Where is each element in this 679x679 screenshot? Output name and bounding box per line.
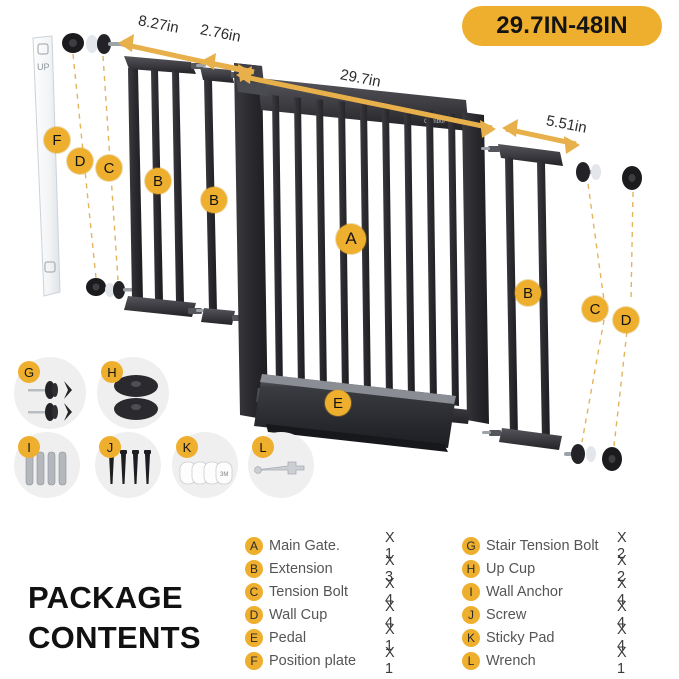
legend-label-extension: Extension <box>269 561 333 577</box>
legend-column-right: G Stair Tension Bolt X 2 H Up Cup X 2 I … <box>462 534 599 672</box>
callout-badge-extension-left-narrow: B <box>201 187 227 213</box>
legend-label-stair-tension-bolt: Stair Tension Bolt <box>486 538 599 554</box>
callout-badge-tension-bolt-left: C <box>96 155 122 181</box>
product-diagram-page: 29.7IN-48IN <box>0 0 679 679</box>
legend-label-tension-bolt: Tension Bolt <box>269 584 348 600</box>
legend-label-sticky-pad: Sticky Pad <box>486 630 555 646</box>
legend-badge-d: D <box>245 606 263 624</box>
callout-badge-wall-cup-right: D <box>613 307 639 333</box>
legend-label-wall-cup: Wall Cup <box>269 607 327 623</box>
part-badge-wrench: L <box>252 436 274 458</box>
legend-item-screw: J Screw X 4 <box>462 603 599 626</box>
legend-qty-position-plate: X 1 <box>385 645 395 677</box>
callout-badge-wall-cup-left: D <box>67 148 93 174</box>
legend-badge-i: I <box>462 583 480 601</box>
part-badge-up-cup: H <box>101 361 123 383</box>
legend-badge-g: G <box>462 537 480 555</box>
page-title-line2: CONTENTS <box>28 618 201 658</box>
legend-badge-j: J <box>462 606 480 624</box>
legend-label-position-plate: Position plate <box>269 653 356 669</box>
legend-label-up-cup: Up Cup <box>486 561 535 577</box>
legend-column-left: A Main Gate. X 1 B Extension X 3 C Tensi… <box>245 534 356 672</box>
legend-label-pedal: Pedal <box>269 630 306 646</box>
callout-badge-main-gate: A <box>336 224 366 254</box>
legend-badge-e: E <box>245 629 263 647</box>
callout-badge-position-plate: F <box>44 127 70 153</box>
legend-item-sticky-pad: K Sticky Pad X 4 <box>462 626 599 649</box>
part-badge-stair-tension-bolt: G <box>18 361 40 383</box>
legend-qty-wrench: X 1 <box>617 645 627 677</box>
legend-item-wall-cup: D Wall Cup X 4 <box>245 603 356 626</box>
part-badge-sticky-pad: K <box>176 436 198 458</box>
legend-item-wrench: L Wrench X 1 <box>462 649 599 672</box>
legend-item-extension: B Extension X 3 <box>245 557 356 580</box>
legend-label-wrench: Wrench <box>486 653 536 669</box>
wrench-art <box>252 455 312 489</box>
svg-text:UP: UP <box>37 62 50 72</box>
legend-item-up-cup: H Up Cup X 2 <box>462 557 599 580</box>
legend-badge-a: A <box>245 537 263 555</box>
legend-badge-k: K <box>462 629 480 647</box>
callout-badge-extension-left-wide: B <box>145 168 171 194</box>
legend-label-screw: Screw <box>486 607 526 623</box>
part-badge-screw: J <box>99 436 121 458</box>
position-plate-art: UP <box>33 36 60 296</box>
legend-badge-h: H <box>462 560 480 578</box>
legend-label-wall-anchor: Wall Anchor <box>486 584 563 600</box>
legend-item-stair-tension-bolt: G Stair Tension Bolt X 2 <box>462 534 599 557</box>
callout-badge-tension-bolt-right: C <box>582 296 608 322</box>
legend-item-wall-anchor: I Wall Anchor X 4 <box>462 580 599 603</box>
legend-badge-f: F <box>245 652 263 670</box>
callout-badge-pedal: E <box>325 390 351 416</box>
legend-badge-b: B <box>245 560 263 578</box>
sticky-pad-art: 3M <box>178 456 236 494</box>
page-title-line1: PACKAGE <box>28 578 201 618</box>
legend-badge-c: C <box>245 583 263 601</box>
legend-item-tension-bolt: C Tension Bolt X 4 <box>245 580 356 603</box>
part-badge-wall-anchor: I <box>18 436 40 458</box>
legend-label-main-gate: Main Gate. <box>269 538 340 554</box>
legend-item-pedal: E Pedal X 1 <box>245 626 356 649</box>
callout-badge-extension-right: B <box>515 280 541 306</box>
legend-badge-l: L <box>462 652 480 670</box>
sticky-pad-brand-text: 3M <box>220 472 228 478</box>
legend-item-main-gate: A Main Gate. X 1 <box>245 534 356 557</box>
legend-item-position-plate: F Position plate X 1 <box>245 649 356 672</box>
page-title: PACKAGE CONTENTS <box>28 578 201 657</box>
